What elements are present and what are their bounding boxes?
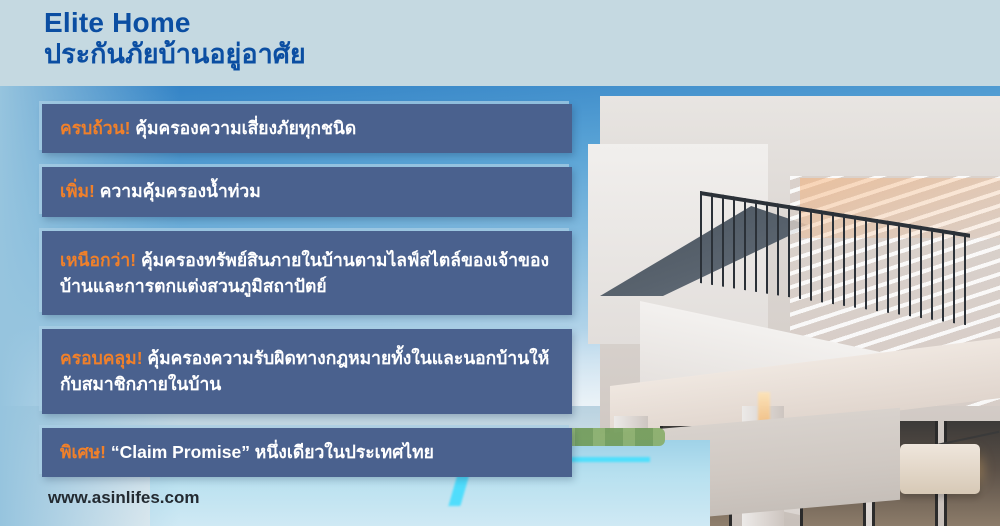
header-band: Elite Home ประกันภัยบ้านอยู่อาศัย <box>0 0 1000 86</box>
benefit-text: คุ้มครองความเสี่ยงภัยทุกชนิด <box>130 118 356 138</box>
benefit-highlight: เหนือกว่า! <box>60 250 136 270</box>
benefit-item-5: พิเศษ! “Claim Promise” หนึ่งเดียวในประเท… <box>42 428 572 477</box>
brand-title-en: Elite Home <box>44 8 1000 37</box>
promo-poster: Elite Home ประกันภัยบ้านอยู่อาศัย ครบถ้ว… <box>0 0 1000 526</box>
benefit-item-3: เหนือกว่า! คุ้มครองทรัพย์สินภายในบ้านตาม… <box>42 231 572 316</box>
benefit-item-4: ครอบคลุม! คุ้มครองความรับผิดทางกฎหมายทั้… <box>42 329 572 414</box>
benefit-text: “Claim Promise” หนึ่งเดียวในประเทศไทย <box>106 442 434 462</box>
benefit-item-1: ครบถ้วน! คุ้มครองความเสี่ยงภัยทุกชนิด <box>42 104 572 153</box>
benefit-highlight: เพิ่ม! <box>60 181 95 201</box>
benefit-highlight: พิเศษ! <box>60 442 106 462</box>
benefit-highlight: ครบถ้วน! <box>60 118 130 138</box>
brand-title-th: ประกันภัยบ้านอยู่อาศัย <box>44 39 1000 70</box>
header-inner: Elite Home ประกันภัยบ้านอยู่อาศัย <box>0 0 1000 70</box>
footer-website-url[interactable]: www.asinlifes.com <box>48 488 199 508</box>
patio-chair <box>900 444 980 494</box>
benefit-list: ครบถ้วน! คุ้มครองความเสี่ยงภัยทุกชนิด เพ… <box>42 104 572 491</box>
benefit-item-2: เพิ่ม! ความคุ้มครองน้ำท่วม <box>42 167 572 216</box>
benefit-highlight: ครอบคลุม! <box>60 348 143 368</box>
benefit-text: ความคุ้มครองน้ำท่วม <box>95 181 261 201</box>
